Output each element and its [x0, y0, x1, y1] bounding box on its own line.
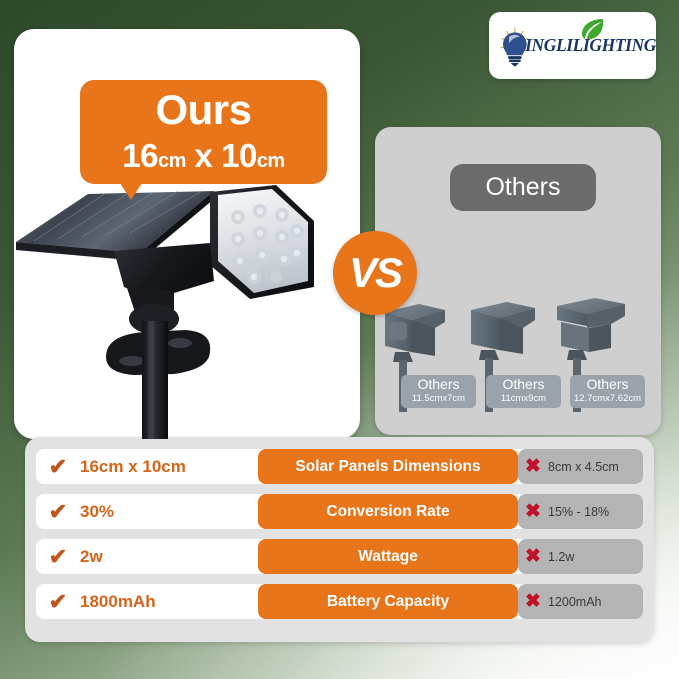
others-tag-1: Others 11.5cmx7cm	[401, 375, 476, 408]
comparison-table: ✔ 16cm x 10cm Solar Panels Dimensions ✖ …	[25, 437, 654, 642]
theirs-value-1: 8cm x 4.5cm	[548, 460, 619, 474]
theirs-cell-3: ✖ 1.2w	[518, 539, 643, 574]
check-icon: ✔	[36, 591, 80, 613]
ours-value-1: 16cm x 10cm	[80, 457, 186, 477]
x-icon: ✖	[518, 457, 548, 476]
feature-label-3: Wattage	[258, 539, 518, 574]
ours-value-2: 30%	[80, 502, 114, 522]
ours-value-3: 2w	[80, 547, 103, 567]
theirs-cell-1: ✖ 8cm x 4.5cm	[518, 449, 643, 484]
others-tag-3: Others 12.7cmx7.62cm	[570, 375, 645, 408]
ours-badge-dimensions: 16cm x 10cm	[80, 136, 327, 181]
theirs-value-3: 1.2w	[548, 550, 574, 564]
solar-spotlight-image	[14, 169, 360, 439]
theirs-value-4: 1200mAh	[548, 595, 602, 609]
ours-unit-b: cm	[257, 150, 285, 172]
others-tag-label-1: Others	[401, 376, 476, 393]
others-tag-size-1: 11.5cmx7cm	[401, 393, 476, 405]
others-tag-label-3: Others	[570, 376, 645, 393]
others-tag-label-2: Others	[486, 376, 561, 393]
table-row: ✔ 2w Wattage ✖ 1.2w	[36, 539, 643, 574]
theirs-value-2: 15% - 18%	[548, 505, 609, 519]
table-row: ✔ 30% Conversion Rate ✖ 15% - 18%	[36, 494, 643, 529]
others-tag-size-3: 12.7cmx7.62cm	[570, 393, 645, 405]
ours-card: Ours 16cm x 10cm	[14, 29, 360, 439]
others-tag-size-2: 11cmx9cm	[486, 393, 561, 405]
others-badge: Others	[450, 164, 596, 211]
ours-size-a: 16	[122, 137, 158, 174]
ours-badge-title: Ours	[80, 80, 327, 136]
ours-unit-a: cm	[158, 150, 186, 172]
check-icon: ✔	[36, 456, 80, 478]
x-icon: ✖	[518, 502, 548, 521]
others-products-image	[375, 290, 661, 435]
table-row: ✔ 1800mAh Battery Capacity ✖ 1200mAh	[36, 584, 643, 619]
feature-label-1: Solar Panels Dimensions	[258, 449, 518, 484]
versus-label: VS	[333, 231, 417, 315]
ours-value-4: 1800mAh	[80, 592, 156, 612]
theirs-cell-2: ✖ 15% - 18%	[518, 494, 643, 529]
x-icon: ✖	[518, 547, 548, 566]
feature-label-2: Conversion Rate	[258, 494, 518, 529]
others-badge-label: Others	[485, 173, 560, 201]
check-icon: ✔	[36, 501, 80, 523]
x-icon: ✖	[518, 592, 548, 611]
table-row: ✔ 16cm x 10cm Solar Panels Dimensions ✖ …	[36, 449, 643, 484]
others-tag-2: Others 11cmx9cm	[486, 375, 561, 408]
ours-times: x	[186, 137, 221, 174]
brand-logo-card: INGLILIGHTING	[489, 12, 656, 79]
ours-size-b: 10	[221, 137, 257, 174]
ours-size-badge: Ours 16cm x 10cm	[80, 80, 327, 184]
feature-label-4: Battery Capacity	[258, 584, 518, 619]
leaf-icon	[579, 17, 605, 41]
check-icon: ✔	[36, 546, 80, 568]
versus-badge: VS	[333, 231, 417, 315]
infographic-canvas: Ours 16cm x 10cm	[0, 0, 679, 679]
theirs-cell-4: ✖ 1200mAh	[518, 584, 643, 619]
